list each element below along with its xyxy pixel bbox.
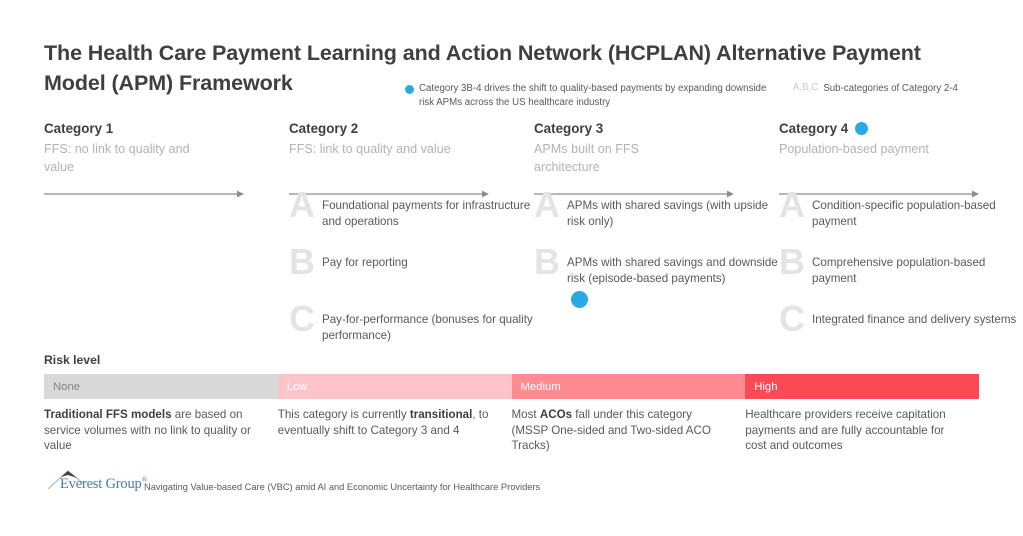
category-3-subtitle: APMs built on FFS architecture (534, 141, 704, 176)
sub-letter: C (289, 301, 314, 337)
sub-letter: A (289, 187, 314, 223)
list-item: A Foundational payments for infrastructu… (289, 196, 534, 236)
sub-letter: C (779, 301, 804, 337)
category-1-header: Category 1 (44, 120, 289, 137)
legend-dot-note: Category 3B-4 drives the shift to qualit… (419, 82, 779, 109)
category-4-title: Category 4 (779, 121, 848, 136)
description-3-pre: Most (512, 408, 540, 421)
sub-item-text: APMs with shared savings and downside ri… (567, 253, 779, 286)
description-4-text: Healthcare providers receive capitation … (745, 408, 945, 452)
registered-mark: ® (142, 475, 148, 484)
category-column-3: Category 3 APMs built on FFS architectur… (534, 120, 779, 176)
sub-item-text: Comprehensive population-based payment (812, 253, 1023, 286)
category-3-arrow (534, 186, 734, 196)
description-category-2: This category is currently transitional,… (278, 407, 512, 454)
category-4-header: Category 4 (779, 120, 1023, 137)
sub-item-text: Integrated finance and delivery systems (812, 310, 1023, 328)
legend-abc-key: A,B,C (793, 82, 818, 93)
sub-letter: A (534, 187, 559, 223)
category-1-title: Category 1 (44, 121, 113, 136)
risk-segment-high: High (745, 374, 979, 399)
blue-dot-icon (855, 122, 868, 135)
description-3-bold: ACOs (540, 408, 572, 421)
blue-dot-icon (405, 85, 414, 94)
description-2-bold: transitional (410, 408, 473, 421)
category-2-items: A Foundational payments for infrastructu… (289, 196, 534, 350)
sub-letter: B (779, 244, 804, 280)
category-column-2: Category 2 FFS: link to quality and valu… (289, 120, 534, 176)
list-item: B APMs with shared savings and downside … (534, 253, 779, 308)
category-2-title: Category 2 (289, 121, 358, 136)
footer: Everest Group® Navigating Value-based Ca… (46, 468, 540, 494)
sub-letter: A (779, 187, 804, 223)
risk-level-bar: None Low Medium High (44, 374, 979, 399)
category-2-subtitle: FFS: link to quality and value (289, 141, 459, 159)
sub-letter: B (289, 244, 314, 280)
legend-abc-note: Sub-categories of Category 2-4 (823, 82, 958, 96)
list-item: B Comprehensive population-based payment (779, 253, 1023, 293)
list-item: C Integrated finance and delivery system… (779, 310, 1023, 350)
description-1-lead: Traditional FFS models (44, 408, 172, 421)
list-item: C Pay-for-performance (bonuses for quali… (289, 310, 534, 350)
legend-item-dot: Category 3B-4 drives the shift to qualit… (405, 82, 779, 109)
category-3-title: Category 3 (534, 121, 603, 136)
sub-item-text: Condition-specific population-based paym… (812, 196, 1023, 229)
legend: Category 3B-4 drives the shift to qualit… (405, 82, 995, 109)
list-item: A APMs with shared savings (with upside … (534, 196, 779, 236)
description-category-1: Traditional FFS models are based on serv… (44, 407, 278, 454)
category-column-4: Category 4 Population-based payment (779, 120, 1023, 176)
category-3-header: Category 3 (534, 120, 779, 137)
risk-level-label: Risk level (44, 353, 100, 367)
everest-group-wordmark: Everest Group® (60, 475, 147, 493)
category-3-items: A APMs with shared savings (with upside … (534, 196, 779, 308)
risk-segment-none: None (44, 374, 278, 399)
category-4-arrow (779, 186, 979, 196)
everest-group-logo: Everest Group® (46, 468, 138, 494)
highlight-dot-icon (571, 291, 588, 308)
list-item: A Condition-specific population-based pa… (779, 196, 1023, 236)
sub-item-text: APMs with shared savings (with upside ri… (567, 196, 779, 229)
brand-name: Everest Group (60, 476, 142, 492)
category-4-subtitle: Population-based payment (779, 141, 949, 159)
footer-caption: Navigating Value-based Care (VBC) amid A… (144, 482, 540, 494)
category-4-items: A Condition-specific population-based pa… (779, 196, 1023, 350)
risk-segment-medium: Medium (512, 374, 746, 399)
description-category-3: Most ACOs fall under this category (MSSP… (512, 407, 746, 454)
category-column-1: Category 1 FFS: no link to quality and v… (44, 120, 289, 176)
sub-item-text: Pay-for-performance (bonuses for quality… (322, 310, 534, 343)
category-2-header: Category 2 (289, 120, 534, 137)
category-2-arrow (289, 186, 489, 196)
legend-item-abc: A,B,C Sub-categories of Category 2-4 (793, 82, 958, 96)
risk-segment-low: Low (278, 374, 512, 399)
category-1-arrow (44, 186, 244, 196)
description-category-4: Healthcare providers receive capitation … (745, 407, 979, 454)
category-columns: Category 1 FFS: no link to quality and v… (44, 120, 979, 176)
sub-item-text: Pay for reporting (322, 253, 534, 271)
category-descriptions: Traditional FFS models are based on serv… (44, 407, 979, 454)
sub-letter: B (534, 244, 559, 280)
description-2-pre: This category is currently (278, 408, 410, 421)
category-1-subtitle: FFS: no link to quality and value (44, 141, 214, 176)
list-item: B Pay for reporting (289, 253, 534, 293)
sub-item-text: Foundational payments for infrastructure… (322, 196, 534, 229)
slide-canvas: The Health Care Payment Learning and Act… (0, 0, 1023, 536)
